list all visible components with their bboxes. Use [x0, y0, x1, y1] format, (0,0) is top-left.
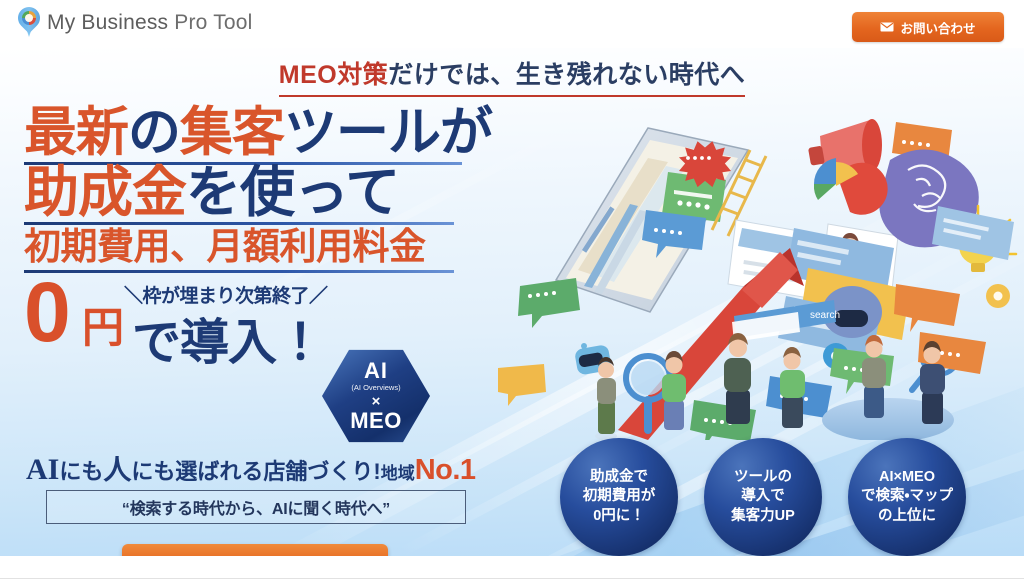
- headline-line1-c: 集客: [180, 103, 284, 162]
- benefit-circle-2-line2: 導入で: [741, 487, 785, 506]
- benefit-circle-1-line3: 0円に！: [593, 507, 645, 526]
- search-label: search: [810, 310, 840, 321]
- person-4: [780, 347, 805, 428]
- hero-tagline: AIにも人にも選ばれる店舗づくり!地域No.1: [26, 448, 496, 488]
- headline-line1-b: の: [128, 103, 180, 162]
- headline-line-1: 最新の集客ツールが: [24, 106, 494, 160]
- benefit-circle-3-line1: AI×MEO: [879, 468, 935, 487]
- tagline-nimo-2: にも選ばれる店舗づくり!: [131, 459, 380, 484]
- benefit-circle-1[interactable]: 助成金で 初期費用が 0円に！: [560, 438, 678, 556]
- header-contact-button[interactable]: お問い合わせ: [852, 12, 1004, 42]
- tagline-nimo-1: にも: [59, 459, 103, 484]
- headline-rule-3: [24, 270, 454, 273]
- person-1: [595, 357, 617, 440]
- benefit-circle-2-line1: ツールの: [734, 468, 792, 487]
- hero-top-headline-rest: だけでは、生き残れない時代へ: [388, 61, 745, 89]
- hex-badge-ai: AI: [364, 360, 388, 382]
- tagline-no1: No.1: [415, 454, 476, 486]
- isometric-marketing-illustration: search: [498, 100, 1024, 440]
- tagline-hito: 人: [103, 454, 131, 485]
- price-suffix: で導入！: [132, 303, 324, 374]
- tagline-ai: AI: [26, 453, 59, 486]
- header-contact-button-label: お問い合わせ: [900, 18, 975, 37]
- price-row: 0 円 ＼枠が埋まり次第終了／ で導入！: [24, 277, 494, 361]
- starburst-badge: [679, 141, 731, 187]
- headline-line2-a: 助成金: [24, 161, 186, 223]
- hero-quote-box: “検索する時代から、AIに聞く時代へ”: [46, 490, 466, 524]
- hex-badge-meo: MEO: [350, 410, 402, 432]
- benefit-circle-3-line3: の上位に: [878, 507, 936, 526]
- card-stack-right: [932, 206, 1014, 260]
- hero-cta-button[interactable]: お問い合わせはコチラ: [122, 544, 388, 556]
- price-yen: 円: [82, 307, 124, 349]
- benefit-circle-1-line1: 助成金で: [590, 468, 648, 487]
- headline-line-3: 初期費用、月額利用料金: [24, 227, 494, 268]
- price-zero: 0: [24, 273, 67, 353]
- headline-line-2: 助成金を使って: [24, 164, 494, 220]
- hero-section: MEO対策だけでは、生き残れない時代へ: [0, 48, 1024, 556]
- page-bottom-divider: [0, 578, 1024, 579]
- chat-bubble-yellow-left: [498, 364, 546, 406]
- hero-top-headline-highlight: MEO対策: [279, 61, 388, 89]
- map-pin-icon: [18, 7, 40, 39]
- hero-copy-block: 最新の集客ツールが 助成金を使って 初期費用、月額利用料金 0 円 ＼枠が埋まり…: [24, 106, 494, 361]
- headline-line1-d: ツールが: [284, 103, 492, 162]
- hex-badge-times: ×: [372, 394, 381, 409]
- headline-line2-b: を使って: [186, 161, 399, 223]
- benefit-circle-1-line2: 初期費用が: [583, 487, 656, 506]
- benefit-circle-2[interactable]: ツールの 導入で 集客力UP: [704, 438, 822, 556]
- logo-text: My Business Pro Tool: [47, 11, 253, 35]
- benefit-circle-3[interactable]: AI×MEO で検索・マップ の上位に: [848, 438, 966, 556]
- hero-landing-page: My Business Pro Tool お問い合わせ MEO対策だけでは、生き…: [0, 0, 1024, 580]
- site-header: My Business Pro Tool お問い合わせ: [0, 0, 1024, 48]
- chat-bubble-green-left: [518, 278, 580, 328]
- page-bottom-spacer: [0, 556, 1024, 580]
- hero-benefit-circles: 助成金で 初期費用が 0円に！ ツールの 導入で 集客力UP AI×MEO で検…: [558, 436, 1018, 556]
- envelope-icon: [880, 22, 894, 32]
- logo-text-secondary: Pro Tool: [168, 11, 252, 34]
- hero-top-headline: MEO対策だけでは、生き残れない時代へ: [0, 55, 1024, 97]
- illustration-svg: search: [498, 100, 1024, 440]
- benefit-circle-2-line3: 集客力UP: [731, 507, 795, 526]
- hex-badge-overviews: (AI Overviews): [351, 384, 400, 392]
- tagline-chiiki: 地域: [381, 464, 415, 483]
- logo-text-primary: My Business: [47, 11, 168, 34]
- person-3: [724, 333, 751, 424]
- headline-line1-a: 最新: [24, 103, 128, 162]
- benefit-circle-3-line2: で検索・マップ: [861, 487, 953, 506]
- ai-meo-hex-badge: AI (AI Overviews) × MEO: [322, 348, 430, 444]
- site-logo[interactable]: My Business Pro Tool: [18, 7, 253, 39]
